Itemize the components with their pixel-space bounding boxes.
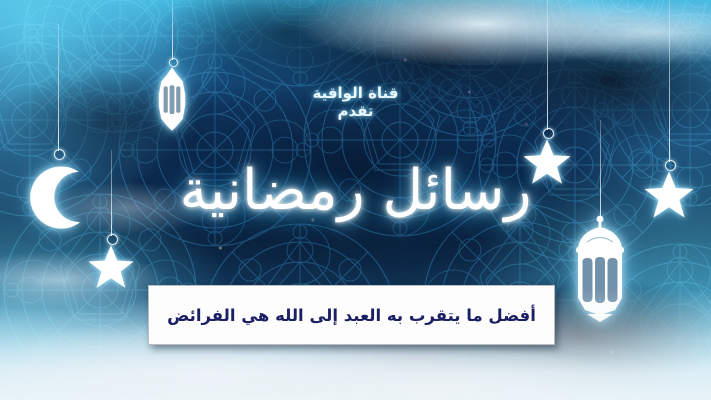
channel-credit-block: قناة الواقية تقدم [0,84,711,121]
ramadan-poster: قناة الواقية تقدم رسائل رمضانية أفضل ما … [0,0,711,400]
quote-text: أفضل ما يتقرب به العبد إلى الله هي الفرا… [167,306,536,325]
page-title: رسائل رمضانية [0,158,711,223]
channel-presents: تقدم [0,102,711,120]
quote-banner: أفضل ما يتقرب به العبد إلى الله هي الفرا… [148,285,555,345]
channel-name: قناة الواقية [0,84,711,102]
